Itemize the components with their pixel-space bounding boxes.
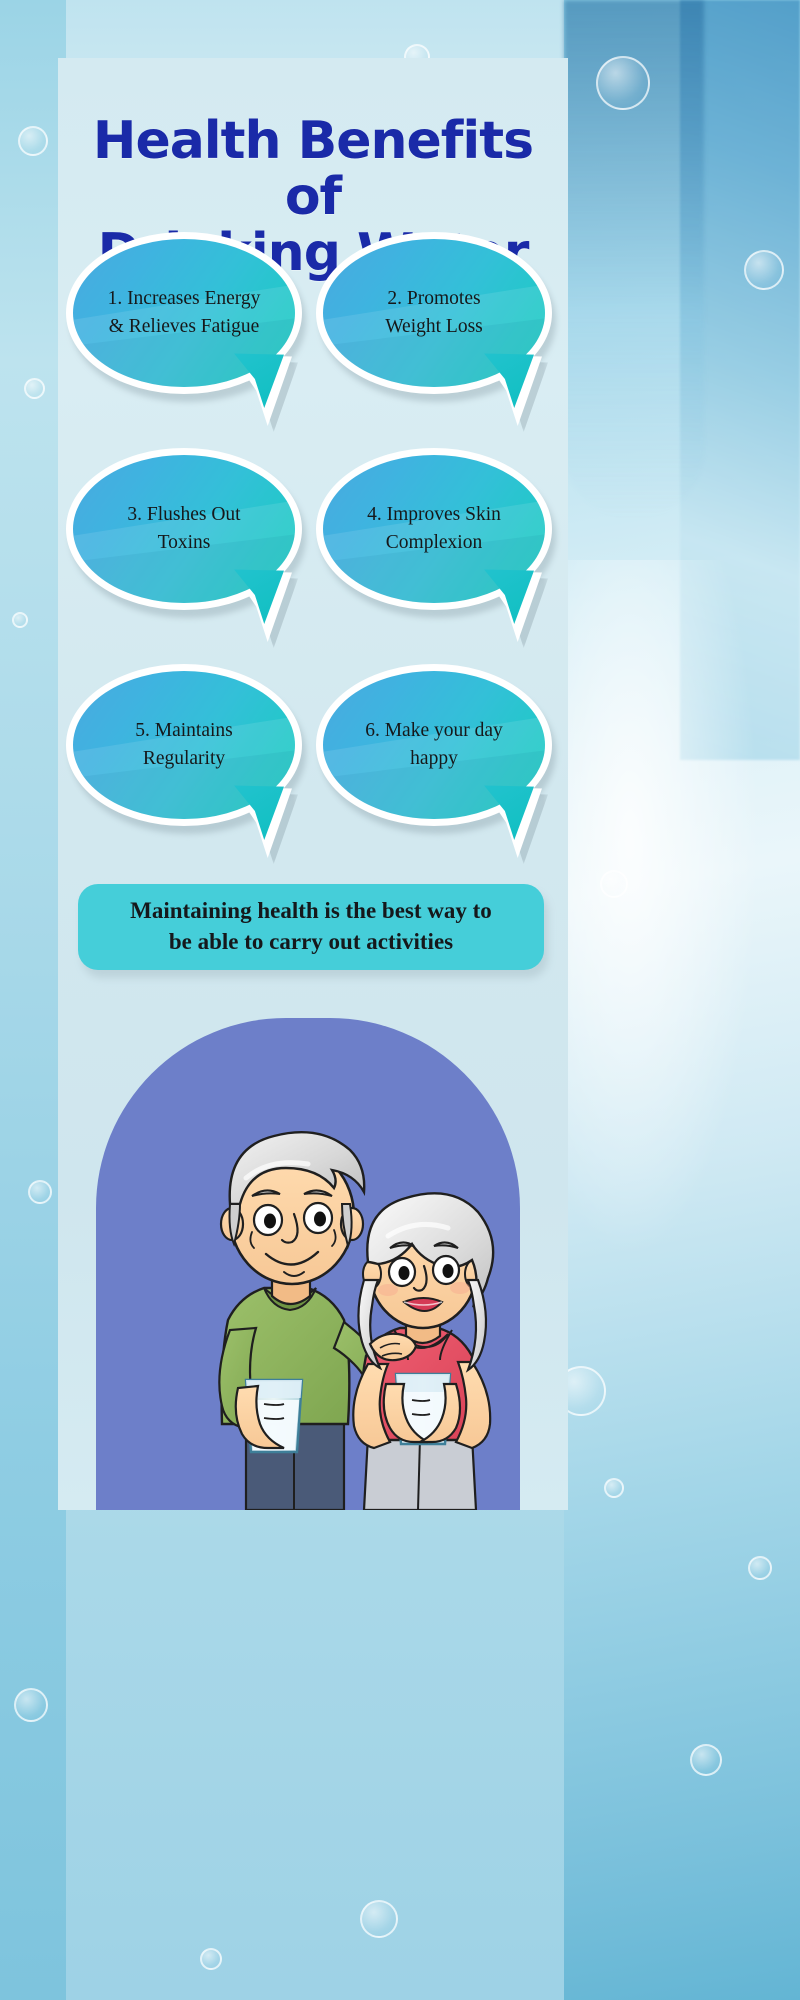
benefit-label-3: 3. Flushes OutToxins: [66, 448, 302, 610]
benefit-line-3b: Toxins: [158, 532, 211, 553]
benefit-label-2: 2. PromotesWeight Loss: [316, 232, 552, 394]
banner-text: Maintaining health is the best way to be…: [112, 896, 510, 958]
bubble-decoration: [690, 1744, 722, 1776]
benefit-line-5a: 5. Maintains: [135, 720, 233, 741]
benefit-line-2b: Weight Loss: [385, 316, 483, 337]
banner-line-1: Maintaining health is the best way to: [130, 898, 492, 923]
benefit-line-1a: 1. Increases Energy: [108, 288, 261, 309]
benefit-bubble-3[interactable]: 3. Flushes OutToxins: [66, 448, 302, 610]
illustration-elderly-couple: [96, 1018, 520, 1510]
benefit-line-5b: Regularity: [143, 748, 225, 769]
banner-line-2: be able to carry out activities: [169, 929, 453, 954]
benefits-row-2: 3. Flushes OutToxins 4. Improves SkinCom…: [58, 448, 568, 664]
bubble-decoration: [748, 1556, 772, 1580]
bubble-decoration: [744, 250, 784, 290]
bubble-decoration: [12, 612, 28, 628]
benefit-bubble-4[interactable]: 4. Improves SkinComplexion: [316, 448, 552, 610]
benefits-list: 1. Increases Energy& Relieves Fatigue 2.…: [58, 232, 568, 880]
benefit-bubble-1[interactable]: 1. Increases Energy& Relieves Fatigue: [66, 232, 302, 394]
page-title-line-1: Health Benefits of: [93, 111, 533, 227]
benefit-label-4: 4. Improves SkinComplexion: [316, 448, 552, 610]
couple-illustration-svg: [96, 1018, 520, 1510]
bubble-decoration: [360, 1900, 398, 1938]
bubble-decoration: [18, 126, 48, 156]
bubble-decoration: [604, 1478, 624, 1498]
bubble-decoration: [28, 1180, 52, 1204]
benefit-bubble-5[interactable]: 5. MaintainsRegularity: [66, 664, 302, 826]
benefits-row-1: 1. Increases Energy& Relieves Fatigue 2.…: [58, 232, 568, 448]
benefit-label-5: 5. MaintainsRegularity: [66, 664, 302, 826]
benefit-line-2a: 2. Promotes: [387, 288, 480, 309]
bubble-decoration: [200, 1948, 222, 1970]
benefit-line-6b: happy: [410, 748, 458, 769]
bubble-decoration: [600, 870, 628, 898]
benefit-bubble-6[interactable]: 6. Make your dayhappy: [316, 664, 552, 826]
benefit-label-6: 6. Make your dayhappy: [316, 664, 552, 826]
benefit-line-4a: 4. Improves Skin: [367, 504, 501, 525]
benefit-line-6a: 6. Make your day: [365, 720, 503, 741]
bubble-decoration: [596, 56, 650, 110]
benefit-line-1b: & Relieves Fatigue: [109, 316, 260, 337]
benefit-bubble-2[interactable]: 2. PromotesWeight Loss: [316, 232, 552, 394]
bubble-decoration: [14, 1688, 48, 1722]
banner-box: Maintaining health is the best way to be…: [78, 884, 544, 970]
bubble-decoration: [24, 378, 45, 399]
benefit-line-4b: Complexion: [386, 532, 482, 553]
benefits-row-3: 5. MaintainsRegularity 6. Make your dayh…: [58, 664, 568, 880]
benefit-line-3a: 3. Flushes Out: [127, 504, 240, 525]
benefit-label-1: 1. Increases Energy& Relieves Fatigue: [66, 232, 302, 394]
